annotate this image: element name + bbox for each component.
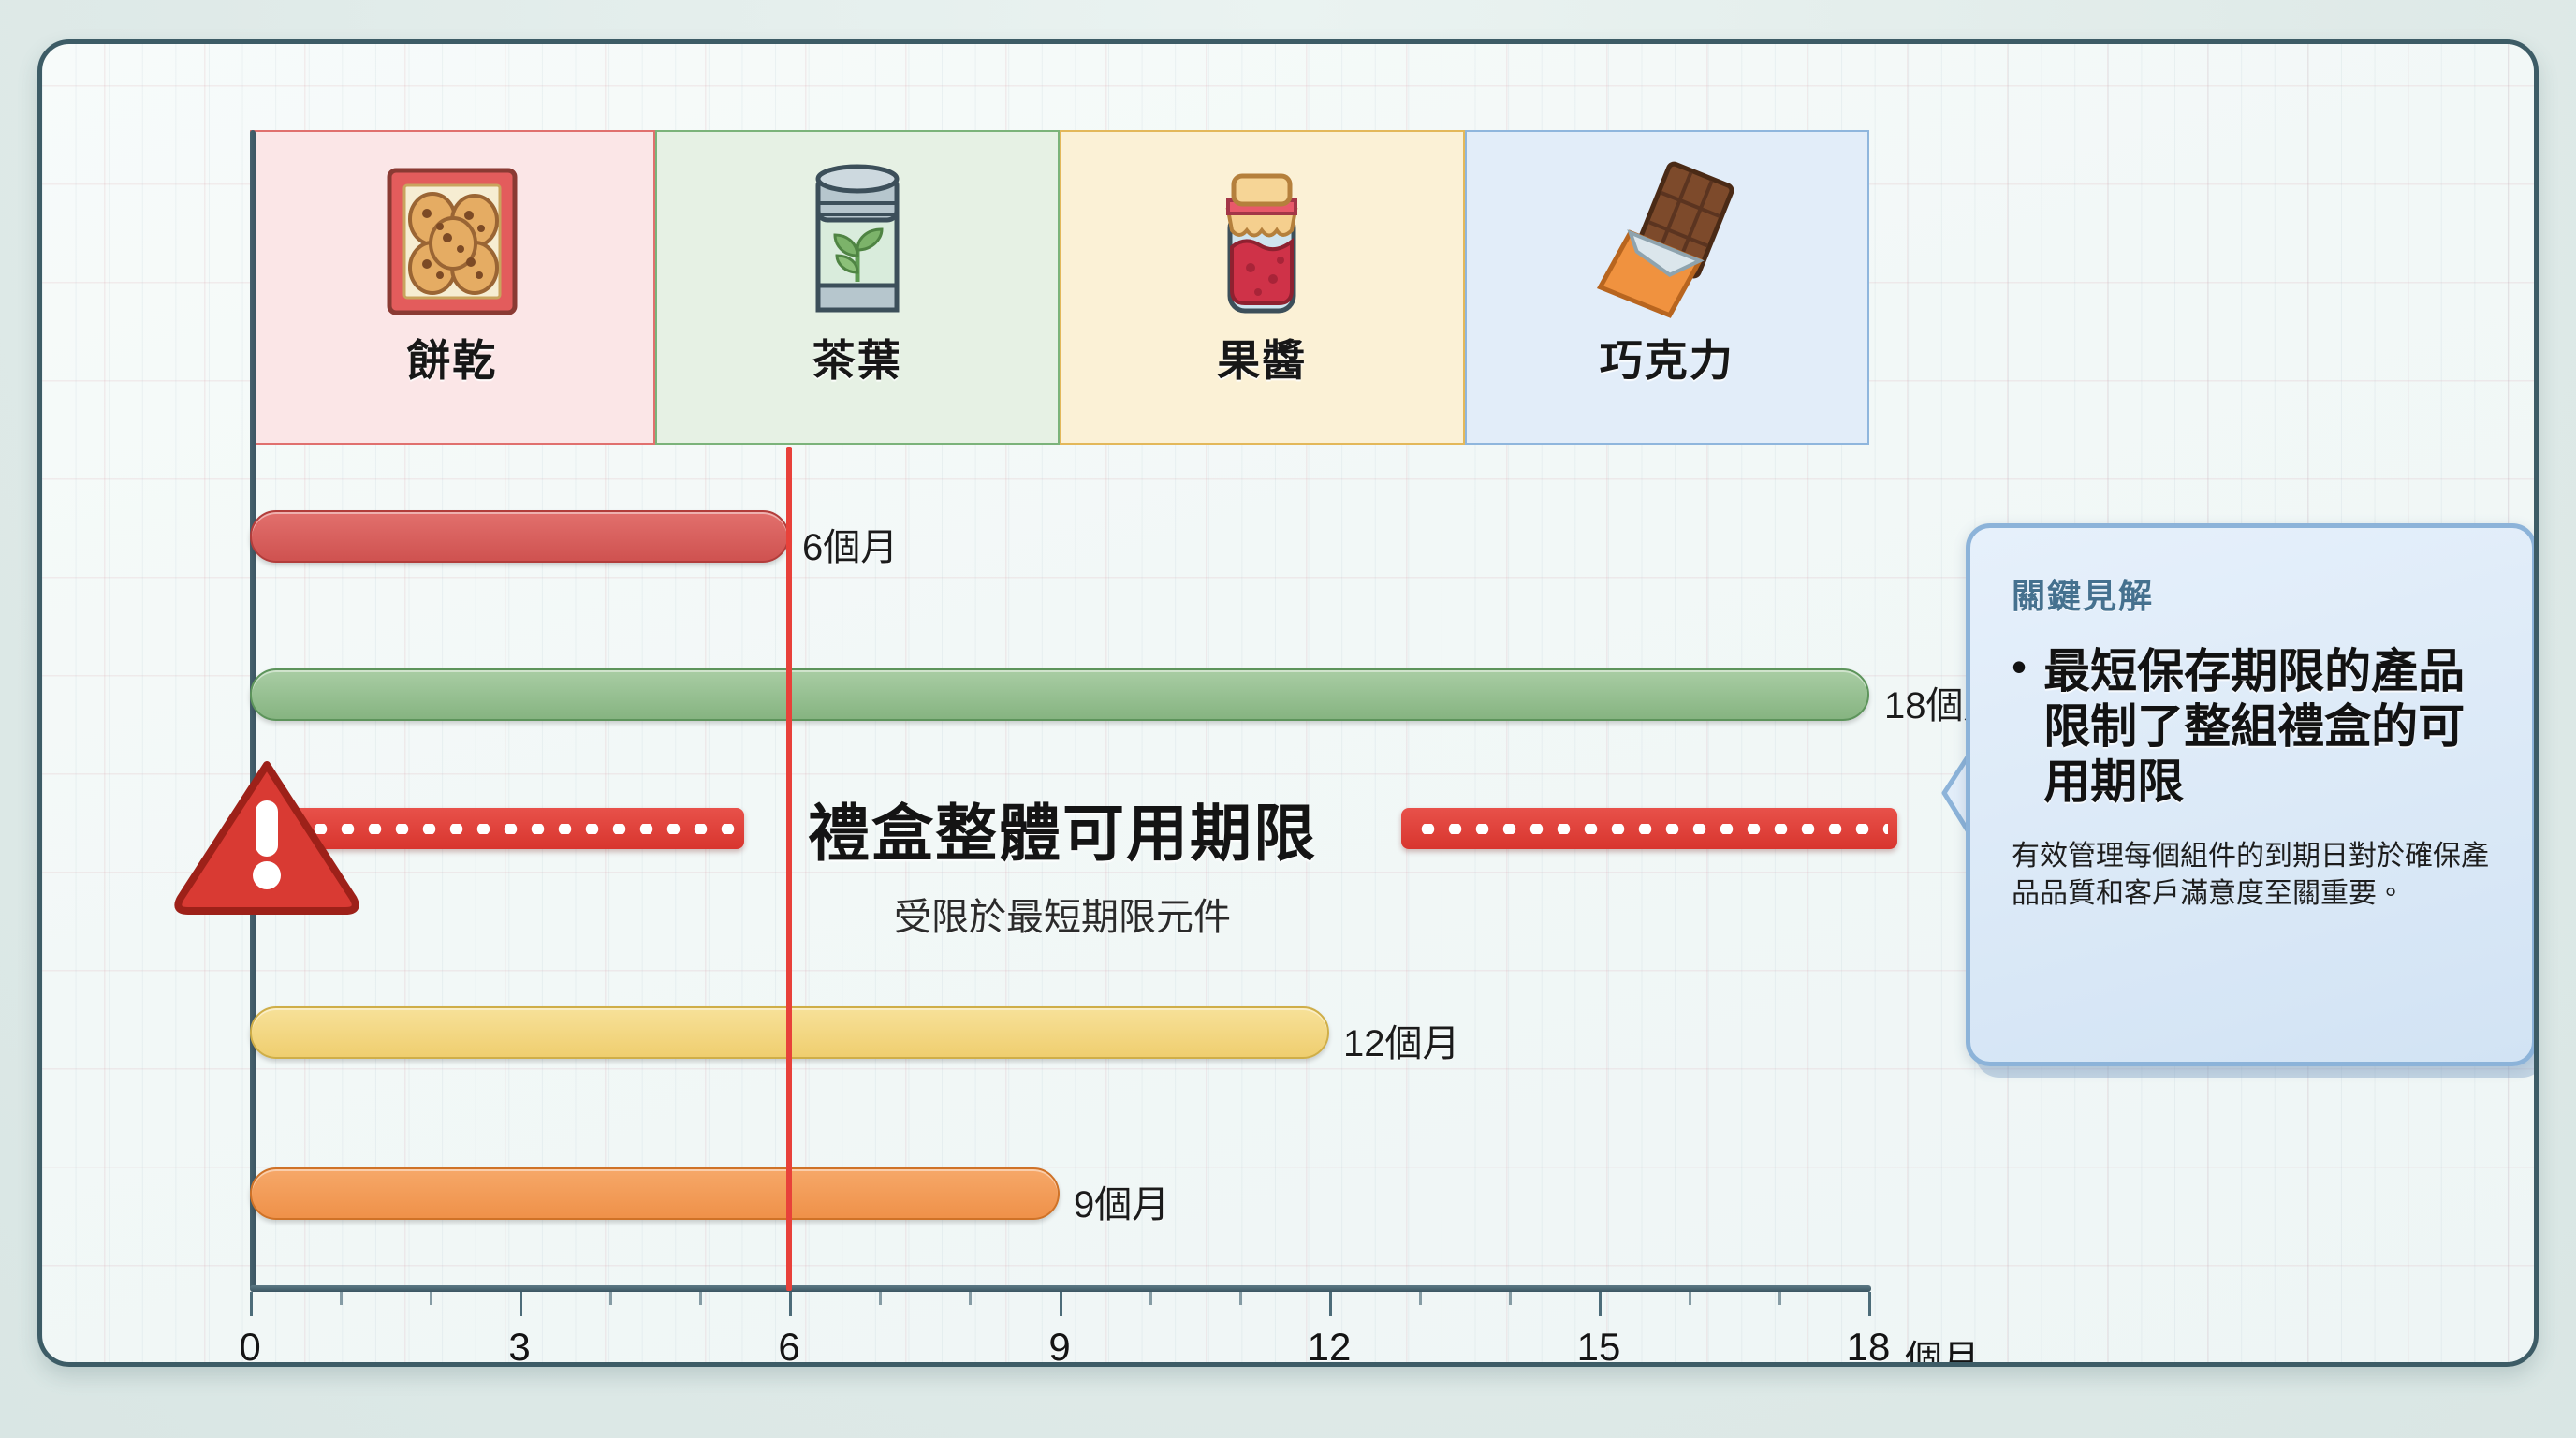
x-tick-minor (1239, 1292, 1242, 1305)
chocolate-icon (1592, 153, 1742, 330)
x-tick-minor (340, 1292, 343, 1305)
bar-tea[interactable] (250, 668, 1869, 721)
product-card-jam[interactable]: 果醬 (1060, 130, 1465, 445)
x-tick-minor (430, 1292, 432, 1305)
x-axis-label-3: 3 (508, 1325, 530, 1367)
product-card-row: 餅乾 茶葉 (250, 130, 1869, 445)
x-tick-minor (879, 1292, 882, 1305)
center-headline-block: 禮盒整體可用期限 受限於最短期限元件 (735, 784, 1390, 941)
gift-set-band-right (1401, 808, 1897, 849)
x-axis-label-15: 15 (1577, 1325, 1621, 1367)
product-card-label: 果醬 (1217, 327, 1307, 389)
product-card-chocolate[interactable]: 巧克力 (1465, 130, 1870, 445)
product-card-label: 茶葉 (812, 327, 902, 389)
x-axis-label-12: 12 (1308, 1325, 1352, 1367)
x-tick-minor (1778, 1292, 1781, 1305)
x-tick-9 (1060, 1292, 1062, 1316)
x-tick-minor (609, 1292, 612, 1305)
x-axis-unit-label: 個月 (1905, 1328, 1980, 1367)
product-card-cookie[interactable]: 餅乾 (250, 130, 655, 445)
x-tick-12 (1329, 1292, 1332, 1316)
jam-jar-icon (1206, 153, 1318, 330)
x-axis-label-18: 18 (1847, 1325, 1891, 1367)
x-axis-label-0: 0 (239, 1325, 260, 1367)
bar-chocolate[interactable] (250, 1167, 1060, 1220)
x-tick-minor (1419, 1292, 1422, 1305)
x-tick-minor (1149, 1292, 1152, 1305)
bar-cookie[interactable] (250, 510, 789, 563)
tea-can-icon (801, 153, 914, 330)
product-card-label: 巧克力 (1600, 327, 1734, 389)
x-tick-6 (789, 1292, 792, 1316)
x-axis-label-9: 9 (1048, 1325, 1070, 1367)
callout-bullet-text: 最短保存期限的產品限制了整組禮盒的可用期限 (2043, 644, 2495, 810)
product-card-tea[interactable]: 茶葉 (655, 130, 1061, 445)
bar-label-chocolate: 9個月 (1074, 1174, 1169, 1228)
x-tick-0 (250, 1292, 253, 1316)
x-tick-minor (699, 1292, 702, 1305)
page-subtitle: 受限於最短期限元件 (735, 887, 1390, 941)
bar-label-cookie: 6個月 (802, 517, 898, 571)
x-tick-minor (1509, 1292, 1512, 1305)
bar-label-jam: 12個月 (1343, 1013, 1460, 1067)
bullet-marker: • (2012, 644, 2027, 810)
product-card-label: 餅乾 (407, 327, 497, 389)
x-tick-minor (1689, 1292, 1691, 1305)
callout-title: 關鍵見解 (2012, 569, 2495, 618)
callout-note: 有效管理每個組件的到期日對於確保產品品質和客戶滿意度至關重要。 (2012, 838, 2495, 913)
x-tick-15 (1599, 1292, 1602, 1316)
x-tick-18 (1868, 1292, 1871, 1316)
x-axis-line (250, 1285, 1871, 1292)
x-axis-label-6: 6 (778, 1325, 799, 1367)
page-title: 禮盒整體可用期限 (735, 784, 1390, 873)
callout-bullet-row: • 最短保存期限的產品限制了整組禮盒的可用期限 (2012, 644, 2495, 810)
x-tick-3 (520, 1292, 522, 1316)
infographic-panel: 餅乾 茶葉 (37, 39, 2539, 1367)
x-tick-minor (969, 1292, 972, 1305)
cookie-icon (382, 153, 522, 330)
key-insight-callout: 關鍵見解 • 最短保存期限的產品限制了整組禮盒的可用期限 有效管理每個組件的到期… (1966, 523, 2537, 1066)
